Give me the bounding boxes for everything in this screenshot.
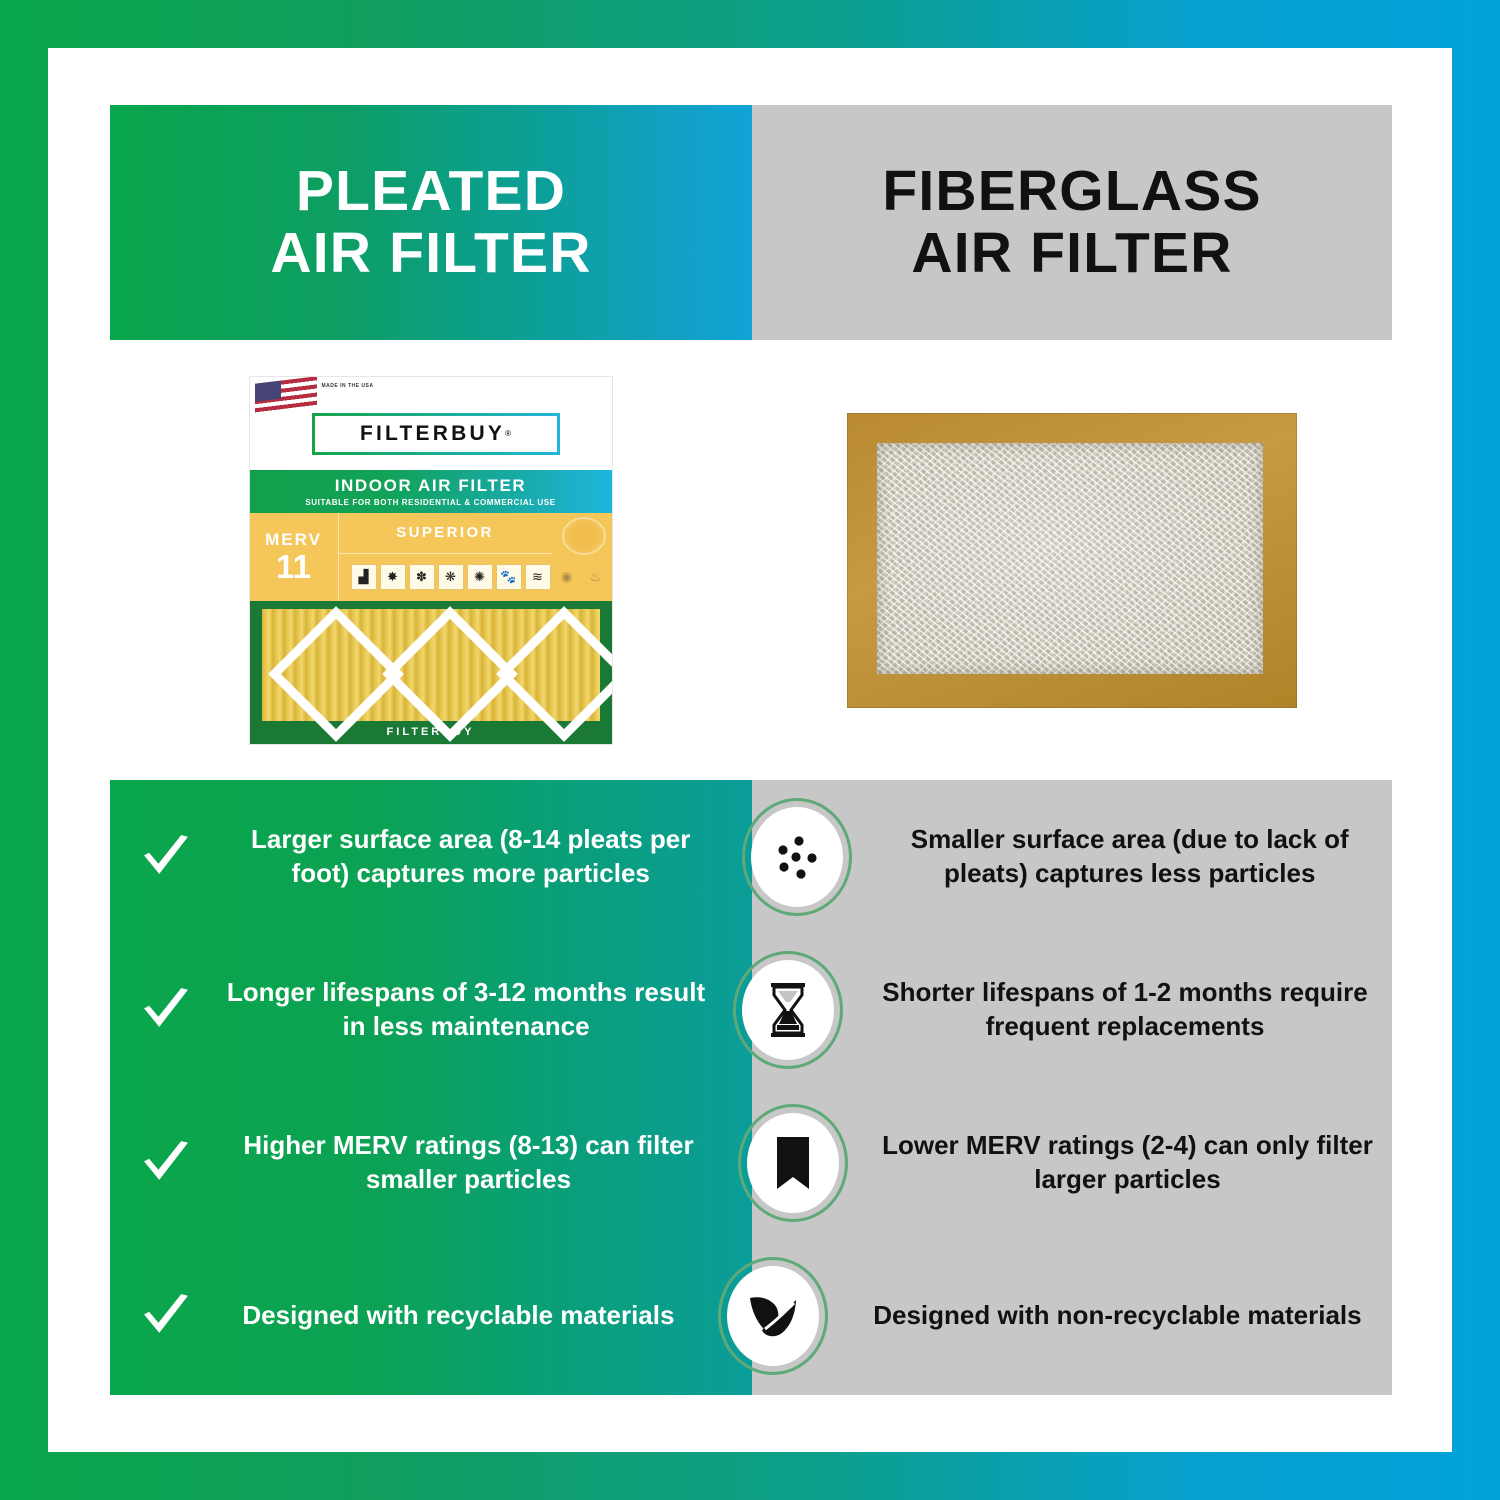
indoor-air-filter-banner: INDOOR AIR FILTER SUITABLE FOR BOTH RESI… — [250, 470, 612, 513]
header-row: PLEATED AIR FILTER FIBERGLASS AIR FILTER — [110, 105, 1392, 340]
leaf-glyph — [744, 1288, 802, 1344]
check-cell — [110, 1136, 222, 1190]
smoke-icon: ≋ — [525, 564, 551, 590]
mold-icon: ✺ — [467, 564, 493, 590]
comparison-row: Larger surface area (8-14 pleats per foo… — [110, 780, 1392, 933]
icon-ring — [718, 1257, 828, 1375]
virus-icon: ◉ — [554, 564, 580, 590]
filterbuy-logo-text: FILTERBUY — [360, 422, 505, 446]
header-fiberglass: FIBERGLASS AIR FILTER — [752, 105, 1392, 340]
header-fiberglass-title: FIBERGLASS AIR FILTER — [882, 161, 1261, 284]
particles-icon — [751, 807, 843, 907]
header-pleated-title: PLEATED AIR FILTER — [270, 161, 591, 284]
icon-ring — [733, 951, 843, 1069]
hourglass-icon — [742, 960, 834, 1060]
check-cell — [110, 1289, 222, 1343]
icon-ring — [738, 1104, 848, 1222]
row-left-text: Higher MERV ratings (8-13) can filter sm… — [222, 1129, 723, 1196]
row-left-text: Longer lifespans of 3-12 months result i… — [222, 976, 718, 1043]
filterbuy-logo: FILTERBUY® — [312, 413, 560, 455]
row-icon-cell — [718, 951, 858, 1069]
usa-flag-icon — [255, 377, 317, 418]
bacteria-icon: ❋ — [438, 564, 464, 590]
row-icon-cell — [703, 1257, 843, 1375]
pleated-footer-brand: FILTERBUY — [250, 726, 612, 738]
pleated-label-top: MADE IN THE USA FILTERBUY® — [250, 377, 612, 470]
check-icon — [139, 1289, 193, 1343]
leaf-icon — [727, 1266, 819, 1366]
row-icon-cell — [727, 798, 867, 916]
merv-rating-box: MERV 11 — [250, 513, 339, 601]
check-icon — [139, 1136, 193, 1190]
particles-glyph — [769, 829, 825, 885]
check-icon — [139, 830, 193, 884]
row-right-text: Shorter lifespans of 1-2 months require … — [858, 976, 1392, 1043]
row-icon-cell — [723, 1104, 863, 1222]
registered-mark: ® — [505, 429, 511, 438]
tier-box: SUPERIOR — [339, 513, 552, 554]
product-images-row: MADE IN THE USA FILTERBUY® INDOOR AIR FI… — [110, 340, 1392, 780]
merv-band: MERV 11 SUPERIOR ▟ ✸ ✽ ❋ ✺ — [250, 513, 612, 601]
support-diamond — [496, 606, 612, 742]
row-right-text: Lower MERV ratings (2-4) can only filter… — [863, 1129, 1392, 1196]
row-left-text: Larger surface area (8-14 pleats per foo… — [222, 823, 727, 890]
odor-icon: ♨ — [583, 564, 609, 590]
row-left-text: Designed with recyclable materials — [222, 1299, 703, 1332]
tier-label: SUPERIOR — [396, 524, 494, 541]
dust-icon: ▟ — [351, 564, 377, 590]
certification-seal-icon — [562, 517, 606, 555]
check-cell — [110, 830, 222, 884]
pet-dander-icon: 🐾 — [496, 564, 522, 590]
row-right-text: Designed with non-recyclable materials — [843, 1299, 1392, 1332]
comparison-row: Higher MERV ratings (8-13) can filter sm… — [110, 1086, 1392, 1239]
merv-value: 11 — [276, 550, 311, 583]
comparison-row: Longer lifespans of 3-12 months result i… — [110, 933, 1392, 1086]
merv-label: MERV — [265, 530, 322, 550]
row-right-text: Smaller surface area (due to lack of ple… — [867, 823, 1392, 890]
bookmark-icon — [747, 1113, 839, 1213]
bookmark-glyph — [773, 1135, 813, 1191]
check-cell — [110, 983, 222, 1037]
icon-ring — [742, 798, 852, 916]
pollen-icon: ✽ — [409, 564, 435, 590]
pleated-filter-image: MADE IN THE USA FILTERBUY® INDOOR AIR FI… — [250, 377, 612, 744]
fiberglass-media — [877, 443, 1263, 674]
fiberglass-product-cell — [751, 340, 1392, 780]
hourglass-glyph — [763, 981, 813, 1039]
banner-subtitle: SUITABLE FOR BOTH RESIDENTIAL & COMMERCI… — [305, 498, 555, 507]
comparison-section: Larger surface area (8-14 pleats per foo… — [110, 780, 1392, 1395]
check-icon — [139, 983, 193, 1037]
pleated-product-cell: MADE IN THE USA FILTERBUY® INDOOR AIR FI… — [110, 340, 751, 780]
banner-title: INDOOR AIR FILTER — [335, 476, 527, 496]
comparison-row: Designed with recyclable materials Desig… — [110, 1239, 1392, 1392]
gold-pleats — [262, 609, 600, 721]
insect-icon: ✸ — [380, 564, 406, 590]
gradient-border-frame: PLEATED AIR FILTER FIBERGLASS AIR FILTER… — [0, 0, 1500, 1500]
header-pleated: PLEATED AIR FILTER — [110, 105, 752, 340]
pleated-media-area: FILTERBUY — [250, 601, 612, 744]
fiberglass-filter-image — [847, 413, 1297, 708]
made-in-usa-label: MADE IN THE USA — [322, 383, 374, 391]
capability-icon-strip: ▟ ✸ ✽ ❋ ✺ 🐾 ≋ ◉ ♨ — [339, 554, 612, 601]
comparison-card: PLEATED AIR FILTER FIBERGLASS AIR FILTER… — [110, 105, 1392, 1395]
